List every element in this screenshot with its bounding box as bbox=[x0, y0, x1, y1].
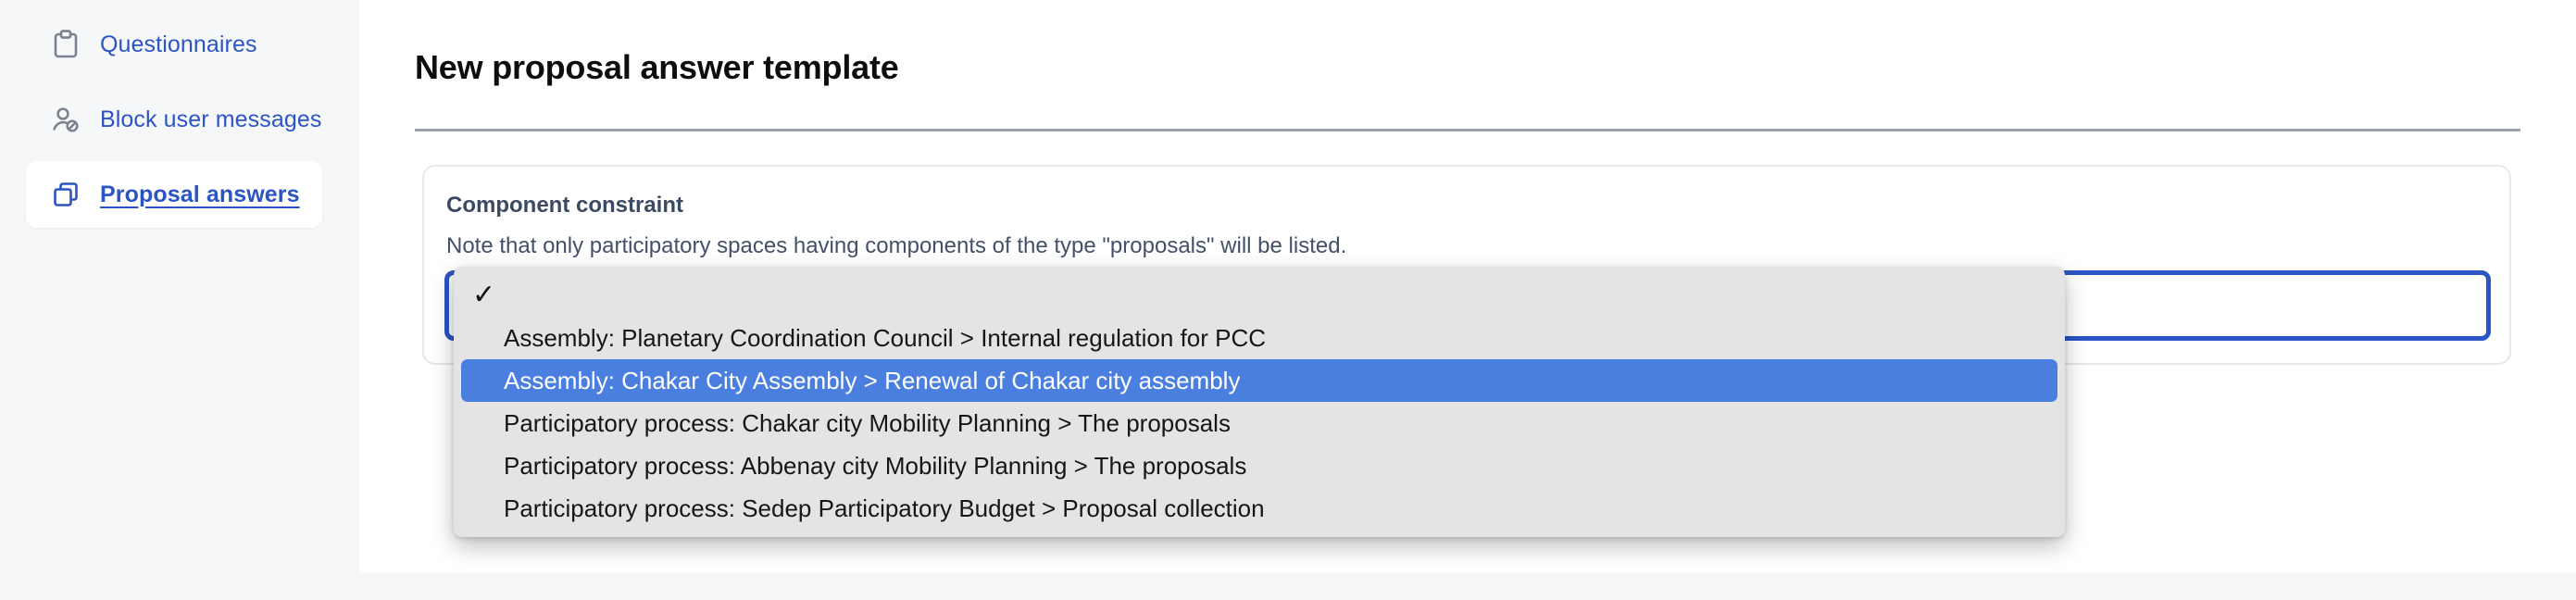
clipboard-icon bbox=[50, 29, 81, 60]
component-constraint-label: Component constraint bbox=[446, 193, 683, 219]
sidebar-item-questionnaires[interactable]: Questionnaires bbox=[26, 11, 322, 78]
sidebar: Questionnaires Block user messages P bbox=[0, 0, 359, 600]
participatory-space-dropdown-list[interactable]: ✓ Assembly: Planetary Coordination Counc… bbox=[454, 267, 2065, 537]
component-constraint-note: Note that only participatory spaces havi… bbox=[446, 233, 1346, 259]
dropdown-option-label: Assembly: Planetary Coordination Council… bbox=[504, 324, 1266, 353]
title-divider bbox=[415, 129, 2520, 131]
sidebar-item-proposal-answers[interactable]: Proposal answers bbox=[26, 161, 322, 228]
sidebar-item-label: Proposal answers bbox=[100, 181, 300, 208]
sidebar-item-label: Questionnaires bbox=[100, 31, 257, 58]
dropdown-option[interactable]: Assembly: Planetary Coordination Council… bbox=[461, 317, 2057, 359]
footer-band bbox=[0, 572, 2576, 600]
check-icon: ✓ bbox=[472, 281, 504, 309]
user-block-icon bbox=[50, 104, 81, 135]
dropdown-option[interactable]: ✓ bbox=[461, 274, 2057, 317]
sidebar-item-label: Block user messages bbox=[100, 106, 322, 133]
dropdown-option-selected[interactable]: Assembly: Chakar City Assembly > Renewal… bbox=[461, 359, 2057, 402]
copy-icon bbox=[50, 179, 81, 210]
dropdown-option[interactable]: Participatory process: Sedep Participato… bbox=[461, 487, 2057, 530]
dropdown-option-label: Participatory process: Abbenay city Mobi… bbox=[504, 452, 1246, 481]
app-root: Questionnaires Block user messages P bbox=[0, 0, 2576, 600]
sidebar-item-block-user-messages[interactable]: Block user messages bbox=[26, 86, 322, 153]
dropdown-option[interactable]: Participatory process: Chakar city Mobil… bbox=[461, 402, 2057, 444]
dropdown-option-label: Assembly: Chakar City Assembly > Renewal… bbox=[504, 367, 1240, 395]
dropdown-option[interactable]: Participatory process: Abbenay city Mobi… bbox=[461, 444, 2057, 487]
page-title: New proposal answer template bbox=[415, 48, 899, 87]
dropdown-option-label: Participatory process: Sedep Participato… bbox=[504, 494, 1265, 523]
dropdown-option-label: Participatory process: Chakar city Mobil… bbox=[504, 409, 1231, 438]
